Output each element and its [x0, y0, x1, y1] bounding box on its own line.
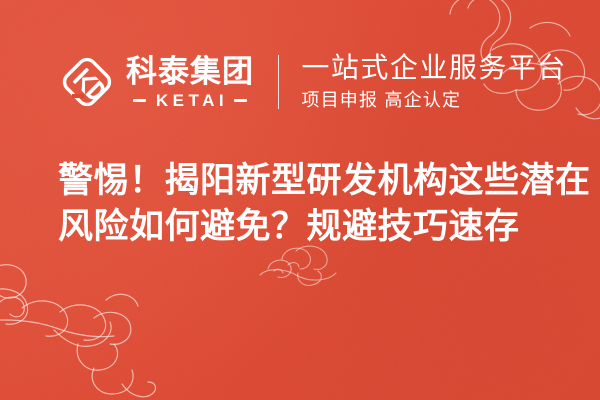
- brand-tagline: 一站式企业服务平台 项目申报 高企认定: [301, 53, 567, 110]
- banner-header: 科泰集团 KETAI 一站式企业服务平台 项目申报 高企认定: [0, 42, 600, 122]
- brand-name-en: KETAI: [152, 92, 228, 109]
- header-divider: [278, 55, 279, 109]
- promo-banner: 科泰集团 KETAI 一站式企业服务平台 项目申报 高企认定 警惕！揭阳新型研发…: [0, 0, 600, 400]
- headline-line-1: 警惕！揭阳新型研发机构这些潜在: [58, 158, 558, 204]
- cloud-decoration-center: [252, 243, 352, 293]
- headline-line-2: 风险如何避免？规避技巧速存: [58, 204, 558, 250]
- wordmark-dash-right: [234, 99, 247, 102]
- tagline-secondary: 项目申报 高企认定: [301, 91, 567, 111]
- cloud-decoration-bottom-left: [0, 256, 222, 400]
- brand-logo[interactable]: 科泰集团 KETAI: [58, 53, 254, 111]
- brand-wordmark: 科泰集团 KETAI: [126, 56, 254, 109]
- brand-name-en-row: KETAI: [133, 92, 247, 109]
- brand-name-cn: 科泰集团: [126, 56, 254, 87]
- tagline-primary: 一站式企业服务平台: [301, 53, 567, 83]
- headline: 警惕！揭阳新型研发机构这些潜在 风险如何避免？规避技巧速存: [58, 158, 558, 250]
- ketai-diamond-kd-monogram-icon: [58, 53, 116, 111]
- wordmark-dash-left: [133, 99, 146, 102]
